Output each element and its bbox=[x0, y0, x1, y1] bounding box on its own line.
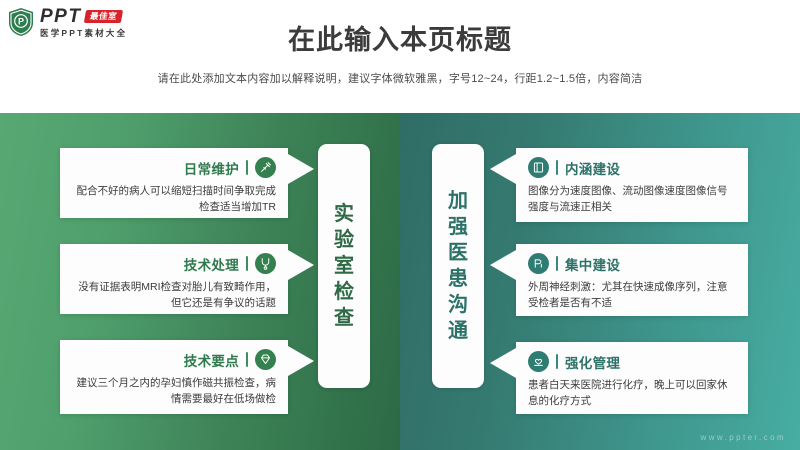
left-card-3-title: 技术要点 bbox=[184, 350, 239, 370]
arrow-pointer-right-icon bbox=[288, 346, 314, 376]
right-card-1-title: 内涵建设 bbox=[565, 158, 620, 178]
right-card-1[interactable]: 内涵建设 图像分为速度图像、流动图像速度图像信号强度与流速正相关 bbox=[516, 148, 748, 222]
hand-heart-icon bbox=[528, 351, 549, 372]
right-category-pill[interactable]: 加强医患沟通 bbox=[432, 144, 484, 388]
right-card-2[interactable]: 集中建设 外周神经刺激：尤其在快速成像序列，注意受检者是否有不适 bbox=[516, 244, 748, 316]
chart-icon bbox=[528, 253, 549, 274]
arrow-pointer-left-icon bbox=[490, 250, 516, 280]
diamond-icon bbox=[255, 349, 276, 370]
book-icon bbox=[528, 157, 549, 178]
title-divider bbox=[556, 256, 558, 271]
left-card-3[interactable]: 技术要点 建议三个月之内的孕妇慎作磁共振检查，病情需要最好在低场做检 bbox=[60, 340, 288, 414]
card-header: 强化管理 bbox=[528, 351, 736, 372]
right-card-2-title: 集中建设 bbox=[565, 254, 620, 274]
left-category-pill[interactable]: 实验室检查 bbox=[318, 144, 370, 388]
title-divider bbox=[556, 354, 558, 369]
left-card-1[interactable]: 日常维护 配合不好的病人可以缩短扫描时间争取完成检查适当增加TR bbox=[60, 148, 288, 218]
right-card-3-title: 强化管理 bbox=[565, 352, 620, 372]
card-header: 集中建设 bbox=[528, 253, 736, 274]
left-card-1-body: 配合不好的病人可以缩短扫描时间争取完成检查适当增加TR bbox=[72, 183, 276, 216]
syringe-icon bbox=[255, 157, 276, 178]
title-divider bbox=[246, 352, 248, 367]
title-divider bbox=[246, 160, 248, 175]
title-divider bbox=[556, 160, 558, 175]
right-card-3[interactable]: 强化管理 患者白天来医院进行化疗，晚上可以回家休息的化疗方式 bbox=[516, 342, 748, 414]
right-card-2-body: 外周神经刺激：尤其在快速成像序列，注意受检者是否有不适 bbox=[528, 279, 736, 312]
footer-watermark: www.ppter.com bbox=[701, 433, 786, 442]
left-card-2-body: 没有证据表明MRI检查对胎儿有致畸作用，但它还是有争议的话题 bbox=[72, 279, 276, 312]
arrow-pointer-left-icon bbox=[490, 348, 516, 378]
right-card-1-body: 图像分为速度图像、流动图像速度图像信号强度与流速正相关 bbox=[528, 183, 736, 216]
arrow-pointer-right-icon bbox=[288, 250, 314, 280]
right-card-3-body: 患者白天来医院进行化疗，晚上可以回家休息的化疗方式 bbox=[528, 377, 736, 410]
slide-canvas: P PPT 最佳室 医学PPT素材大全 在此输入本页标题 请在此处添加文本内容加… bbox=[0, 0, 800, 450]
page-subtitle: 请在此处添加文本内容加以解释说明，建议字体微软雅黑，字号12~24，行距1.2~… bbox=[0, 70, 800, 86]
arrow-pointer-left-icon bbox=[490, 154, 516, 184]
arrow-pointer-right-icon bbox=[288, 154, 314, 184]
stethoscope-icon bbox=[255, 253, 276, 274]
left-category-label: 实验室检查 bbox=[334, 201, 354, 331]
left-card-2-title: 技术处理 bbox=[184, 254, 239, 274]
page-title: 在此输入本页标题 bbox=[0, 18, 800, 57]
left-card-1-title: 日常维护 bbox=[184, 158, 239, 178]
left-card-2[interactable]: 技术处理 没有证据表明MRI检查对胎儿有致畸作用，但它还是有争议的话题 bbox=[60, 244, 288, 314]
left-card-3-body: 建议三个月之内的孕妇慎作磁共振检查，病情需要最好在低场做检 bbox=[72, 375, 276, 408]
title-divider bbox=[246, 256, 248, 271]
card-header: 技术处理 bbox=[72, 253, 276, 274]
right-category-label: 加强医患沟通 bbox=[448, 188, 468, 344]
card-header: 日常维护 bbox=[72, 157, 276, 178]
card-header: 技术要点 bbox=[72, 349, 276, 370]
card-header: 内涵建设 bbox=[528, 157, 736, 178]
